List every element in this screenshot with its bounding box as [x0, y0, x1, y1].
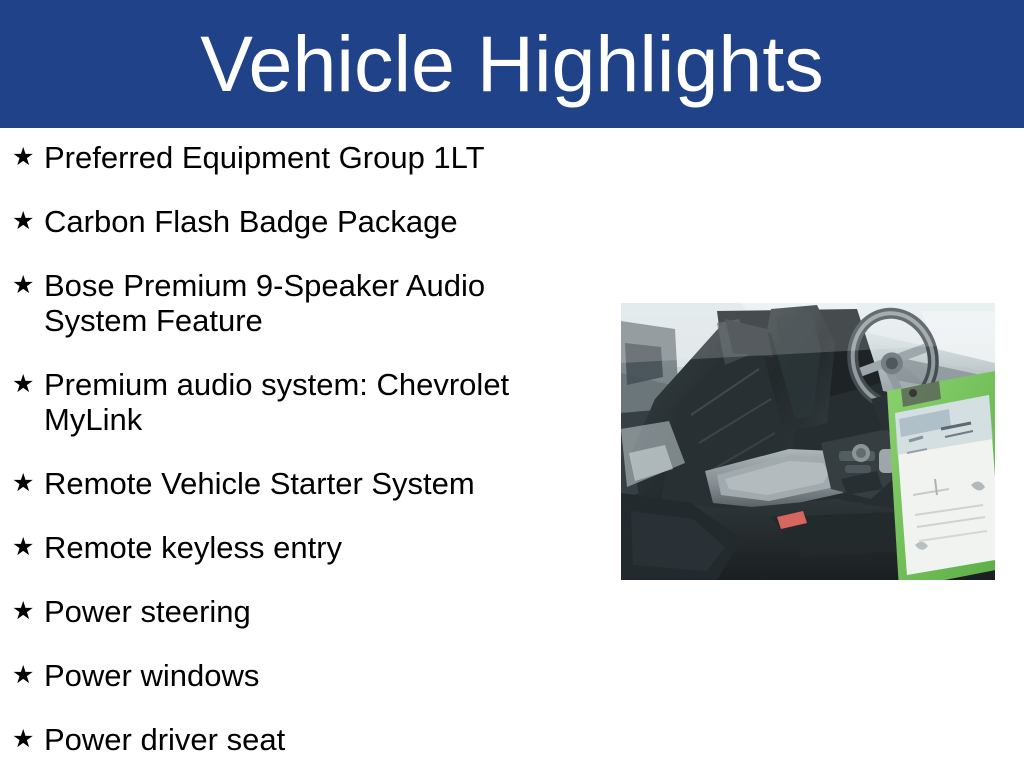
list-item-label: Power driver seat — [44, 722, 540, 757]
list-item-label: Preferred Equipment Group 1LT — [44, 140, 540, 175]
vehicle-interior-illustration — [621, 303, 995, 580]
star-bullet-icon: ★ — [12, 367, 38, 402]
star-bullet-icon: ★ — [12, 658, 38, 693]
list-item-label: Remote keyless entry — [44, 530, 540, 565]
list-item: ★ Power steering — [10, 594, 540, 629]
page-title: Vehicle Highlights — [0, 0, 1024, 128]
star-bullet-icon: ★ — [12, 204, 38, 239]
list-item: ★ Bose Premium 9-Speaker Audio System Fe… — [10, 268, 540, 338]
list-item: ★ Remote Vehicle Starter System — [10, 466, 540, 501]
list-item: ★ Preferred Equipment Group 1LT — [10, 140, 540, 175]
list-item-label: Bose Premium 9-Speaker Audio System Feat… — [44, 268, 540, 338]
list-item-label: Power windows — [44, 658, 540, 693]
star-bullet-icon: ★ — [12, 530, 38, 565]
list-item-label: Carbon Flash Badge Package — [44, 204, 540, 239]
list-item: ★ Power driver seat — [10, 722, 540, 757]
list-item: ★ Carbon Flash Badge Package — [10, 204, 540, 239]
list-item-label: Remote Vehicle Starter System — [44, 466, 540, 501]
vehicle-interior-photo — [621, 303, 995, 580]
list-item: ★ Premium audio system: Chevrolet MyLink — [10, 367, 540, 437]
list-item-label: Premium audio system: Chevrolet MyLink — [44, 367, 540, 437]
slide-root: Vehicle Highlights ★ Preferred Equipment… — [0, 0, 1024, 768]
list-item-label: Power steering — [44, 594, 540, 629]
star-bullet-icon: ★ — [12, 140, 38, 175]
star-bullet-icon: ★ — [12, 466, 38, 501]
list-item: ★ Power windows — [10, 658, 540, 693]
star-bullet-icon: ★ — [12, 268, 38, 303]
vehicle-highlights-list: ★ Preferred Equipment Group 1LT ★ Carbon… — [10, 140, 540, 757]
list-item: ★ Remote keyless entry — [10, 530, 540, 565]
star-bullet-icon: ★ — [12, 722, 38, 757]
star-bullet-icon: ★ — [12, 594, 38, 629]
